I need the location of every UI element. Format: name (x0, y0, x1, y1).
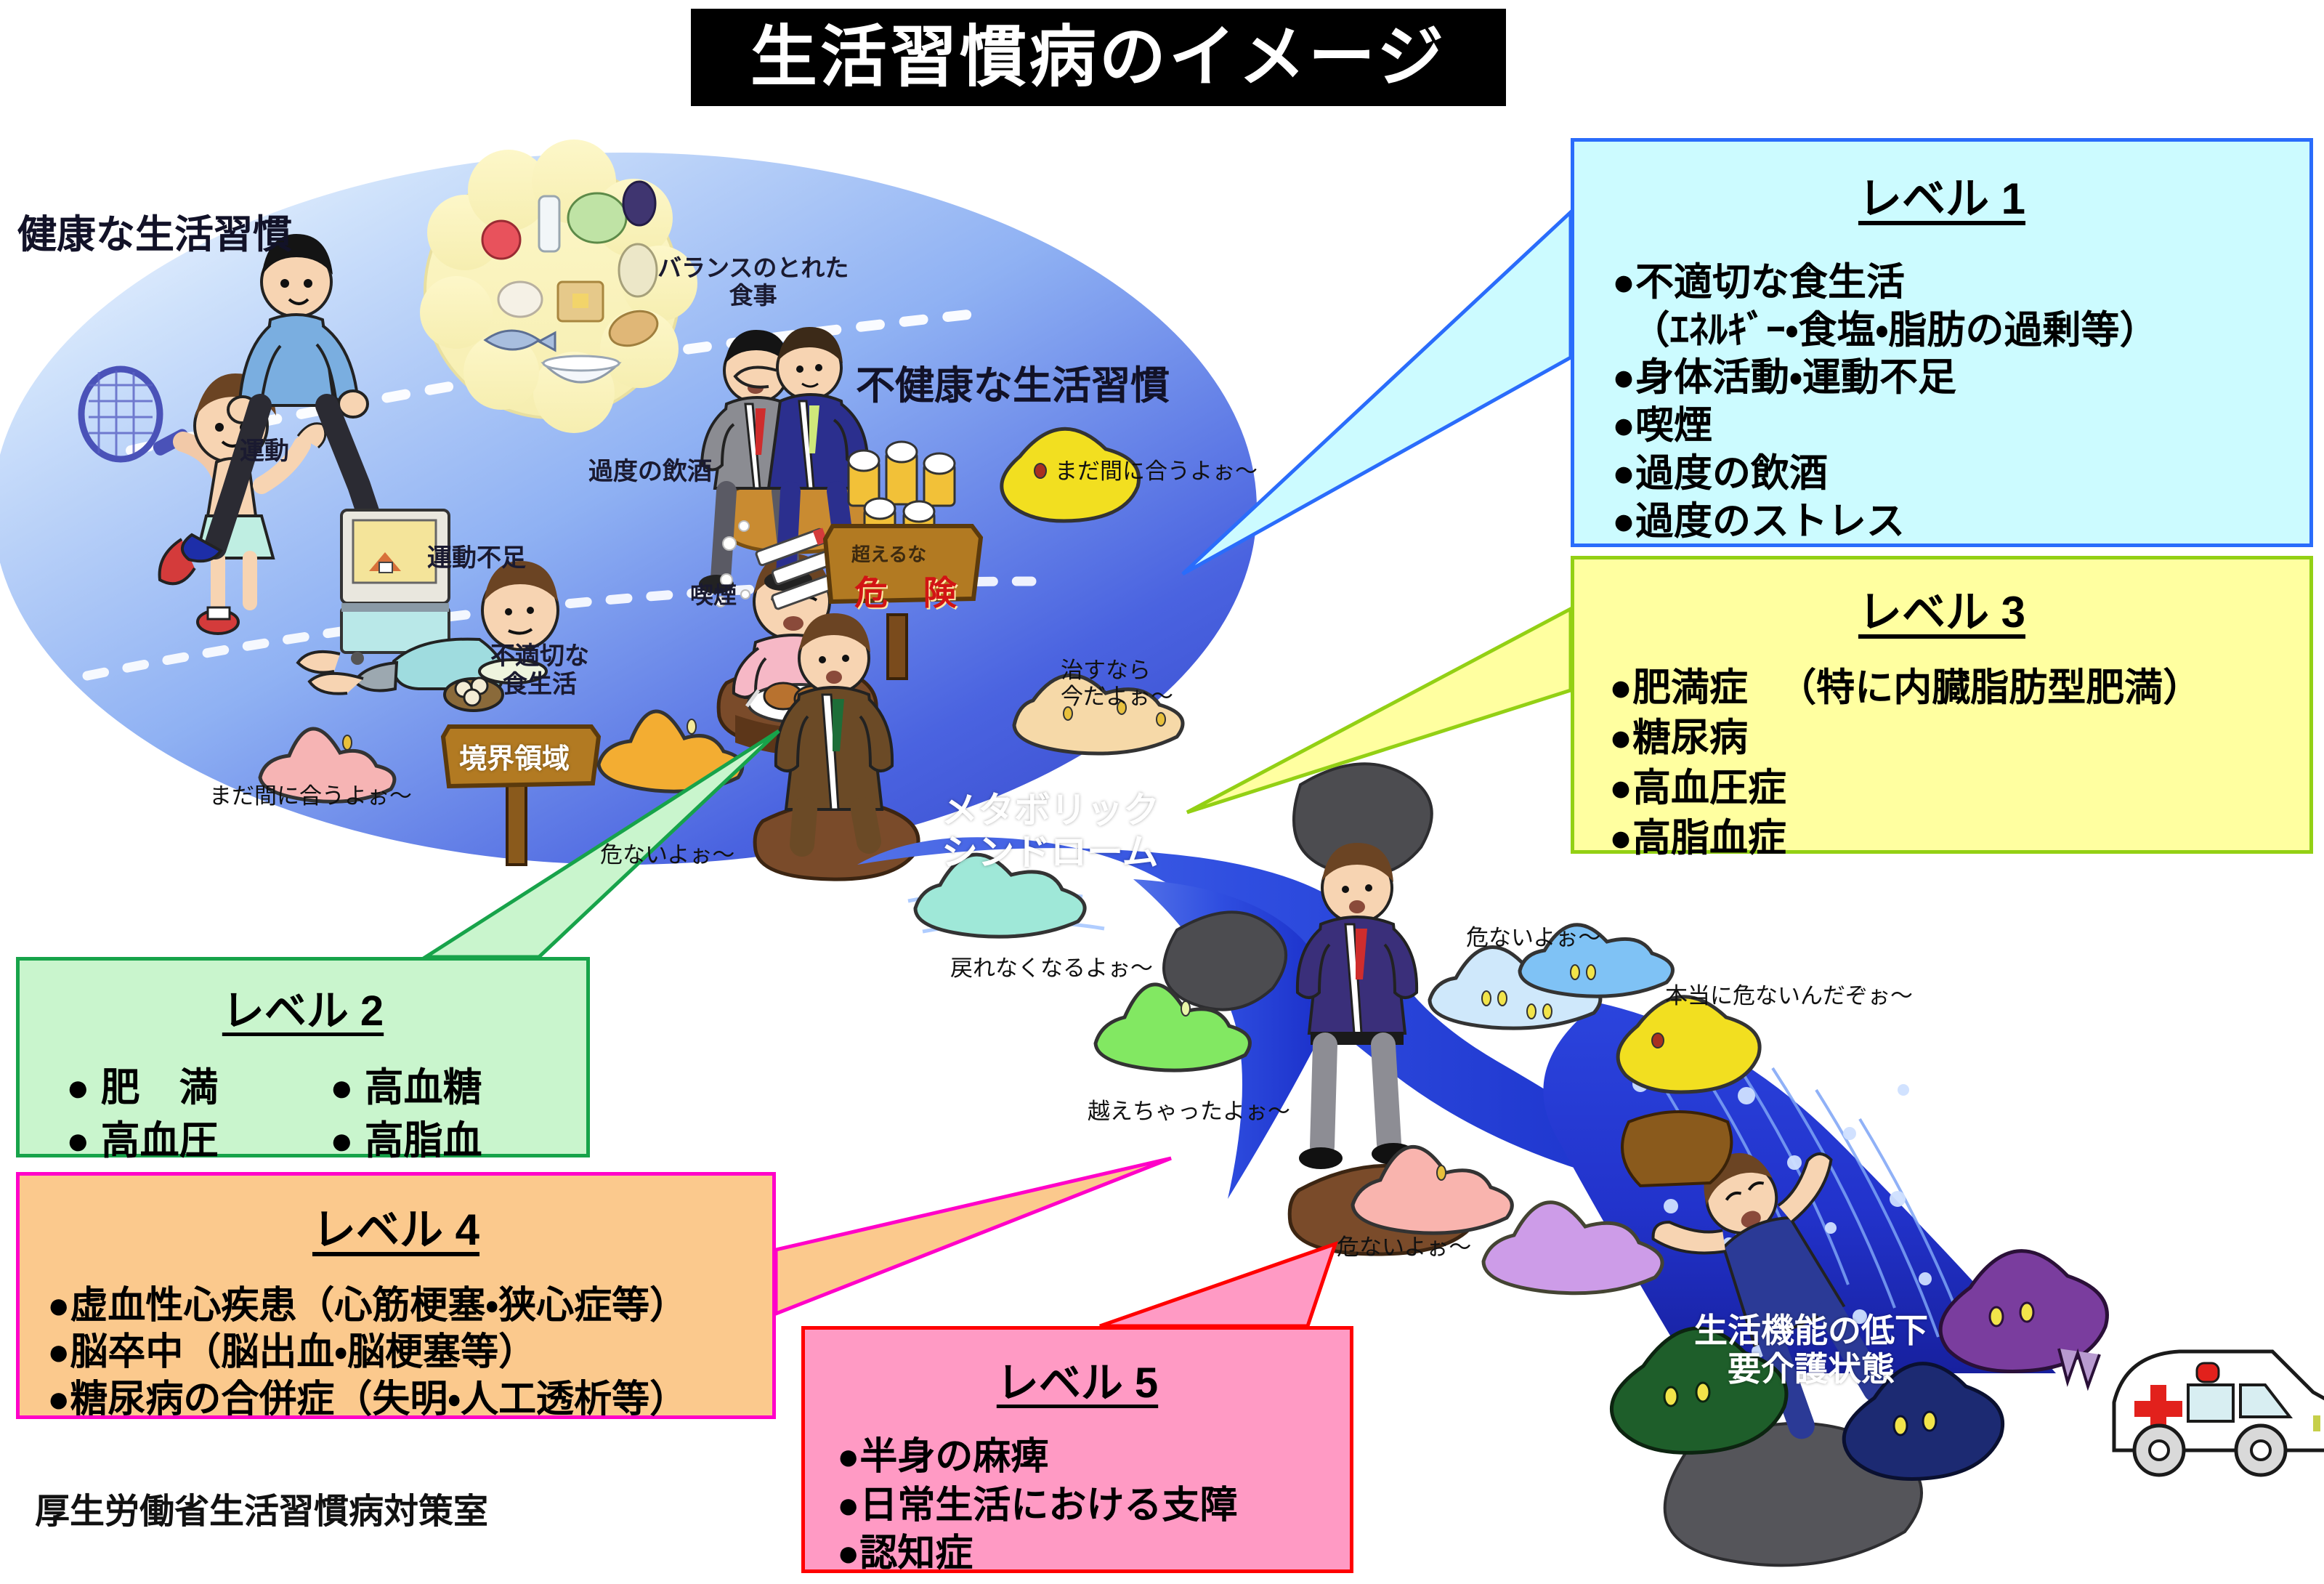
level-3-item: ●糖尿病 (1609, 714, 2309, 764)
speech-dangerous-mid: 危ないよぉ～ (1466, 926, 1600, 952)
level-2-item: ● 高血糖 (330, 1064, 586, 1112)
level-5-item: ●半身の麻痺 (837, 1433, 1350, 1482)
level-3-item: ●高血圧症 (1609, 764, 2309, 814)
callout-level-1: レベル 1 ●不適切な食生活 （ｴﾈﾙｷﾞｰ・食塩・脂肪の過剰等） ●身体活動・… (1571, 138, 2313, 547)
speech-dangerous-bottom: 危ないよぉ～ (1337, 1235, 1471, 1261)
level-4-list: ●虚血性心疾患（心筋梗塞・狭心症等） ●脳卒中（脳出血・脳梗塞等） ●糖尿病の合… (47, 1282, 772, 1423)
page-title: 生活習慣病のイメージ (691, 9, 1506, 106)
source-credit: 厚生労働省生活習慣病対策室 (35, 1482, 488, 1533)
level-4-item: ●脳卒中（脳出血・脳梗塞等） (47, 1329, 772, 1375)
level-1-item: （ｴﾈﾙｷﾞｰ・食塩・脂肪の過剰等） (1612, 307, 2309, 355)
infographic-canvas: 生活習慣病のイメージ 健康な生活習慣 不健康な生活習慣 運動 バランスのとれた … (0, 0, 2324, 1584)
callout-level-3: レベル 3 ●肥満症 （特に内臓脂肪型肥満） ●糖尿病 ●高血圧症 ●高脂血症 (1571, 556, 2313, 854)
level-2-item: ● 高脂血 (330, 1117, 586, 1165)
level-4-heading: レベル 4 (20, 1195, 772, 1258)
callout-level-4: レベル 4 ●虚血性心疾患（心筋梗塞・狭心症等） ●脳卒中（脳出血・脳梗塞等） … (16, 1172, 776, 1419)
speech-crossed-over: 越えちゃったよぉ～ (1088, 1099, 1290, 1126)
tail-level5 (1100, 1244, 1335, 1326)
blob-yellow-right (1618, 997, 1760, 1092)
label-metabolic-syndrome: メタボリック シンドローム (942, 789, 1159, 873)
label-boundary-zone: 境界領域 (459, 743, 570, 775)
level-2-heading: レベル 2 (20, 977, 586, 1038)
label-balanced-meal: バランスのとれた 食事 (657, 254, 849, 310)
label-sign-danger: 危 険 (854, 574, 970, 613)
speech-really-dangerous: 本当に危ないんだぞぉ～ (1665, 984, 1913, 1010)
level-5-item: ●日常生活における支障 (837, 1482, 1350, 1530)
callout-level-2: レベル 2 ● 肥 満 ● 高血糖 ● 高血圧 ● 高脂血 (16, 957, 590, 1157)
level-2-list: ● 肥 満 ● 高血糖 ● 高血圧 ● 高脂血 (66, 1064, 586, 1165)
level-2-item: ● 高血圧 (66, 1117, 323, 1165)
level-5-item: ●認知症 (837, 1530, 1350, 1578)
speech-dangerous-left: 危ないよぉ～ (600, 843, 734, 869)
level-3-heading: レベル 3 (1574, 577, 2309, 640)
speech-still-in-time-left: まだ間に合うよぉ～ (209, 784, 412, 810)
callout-level-5: レベル 5 ●半身の麻痺 ●日常生活における支障 ●認知症 (801, 1326, 1353, 1573)
level-2-item: ● 肥 満 (66, 1064, 323, 1112)
label-excessive-drinking: 過度の飲酒 (588, 458, 712, 486)
level-1-item: ●身体活動・運動不足 (1612, 354, 2309, 402)
label-poor-diet: 不適切な 食生活 (490, 642, 589, 700)
tail-level4 (776, 1158, 1171, 1314)
level-3-item: ●高脂血症 (1609, 814, 2309, 864)
page-title-text: 生活習慣病のイメージ (750, 24, 1446, 91)
level-1-item: ●過度のストレス (1612, 498, 2309, 546)
ambulance (2114, 1351, 2324, 1475)
label-decline-of-function: 生活機能の低下 要介護状態 (1694, 1312, 1928, 1389)
level-4-item: ●糖尿病の合併症（失明・人工透析等） (47, 1376, 772, 1423)
level-1-item: ●不適切な食生活 (1612, 259, 2309, 307)
level-1-heading: レベル 1 (1574, 163, 2309, 227)
level-4-item: ●虚血性心疾患（心筋梗塞・狭心症等） (47, 1282, 772, 1329)
level-1-item: ●過度の飲酒 (1612, 450, 2309, 498)
label-exercise: 運動 (240, 437, 289, 466)
speech-cannot-return: 戻れなくなるよぉ～ (950, 956, 1153, 982)
speech-still-in-time-right: まだ間に合うよぉ～ (1055, 459, 1258, 485)
level-3-item: ●肥満症 （特に内臓脂肪型肥満） (1609, 663, 2309, 714)
label-lack-of-exercise: 運動不足 (427, 544, 526, 573)
level-5-heading: レベル 5 (805, 1349, 1350, 1410)
label-smoking: 喫煙 (690, 582, 737, 609)
label-unhealthy-habits: 不健康な生活習慣 (856, 363, 1170, 409)
tail-level1 (1183, 212, 1571, 574)
label-healthy-habits: 健康な生活習慣 (17, 212, 292, 258)
speech-cure-now: 治すなら 今だよぉ～ (1061, 658, 1173, 711)
level-5-list: ●半身の麻痺 ●日常生活における支障 ●認知症 (837, 1433, 1350, 1578)
level-1-list: ●不適切な食生活 （ｴﾈﾙｷﾞｰ・食塩・脂肪の過剰等） ●身体活動・運動不足 ●… (1612, 259, 2309, 545)
level-1-item: ●喫煙 (1612, 402, 2309, 450)
label-sign-do-not-cross: 超えるな (851, 544, 926, 565)
level-3-list: ●肥満症 （特に内臓脂肪型肥満） ●糖尿病 ●高血圧症 ●高脂血症 (1609, 663, 2309, 864)
